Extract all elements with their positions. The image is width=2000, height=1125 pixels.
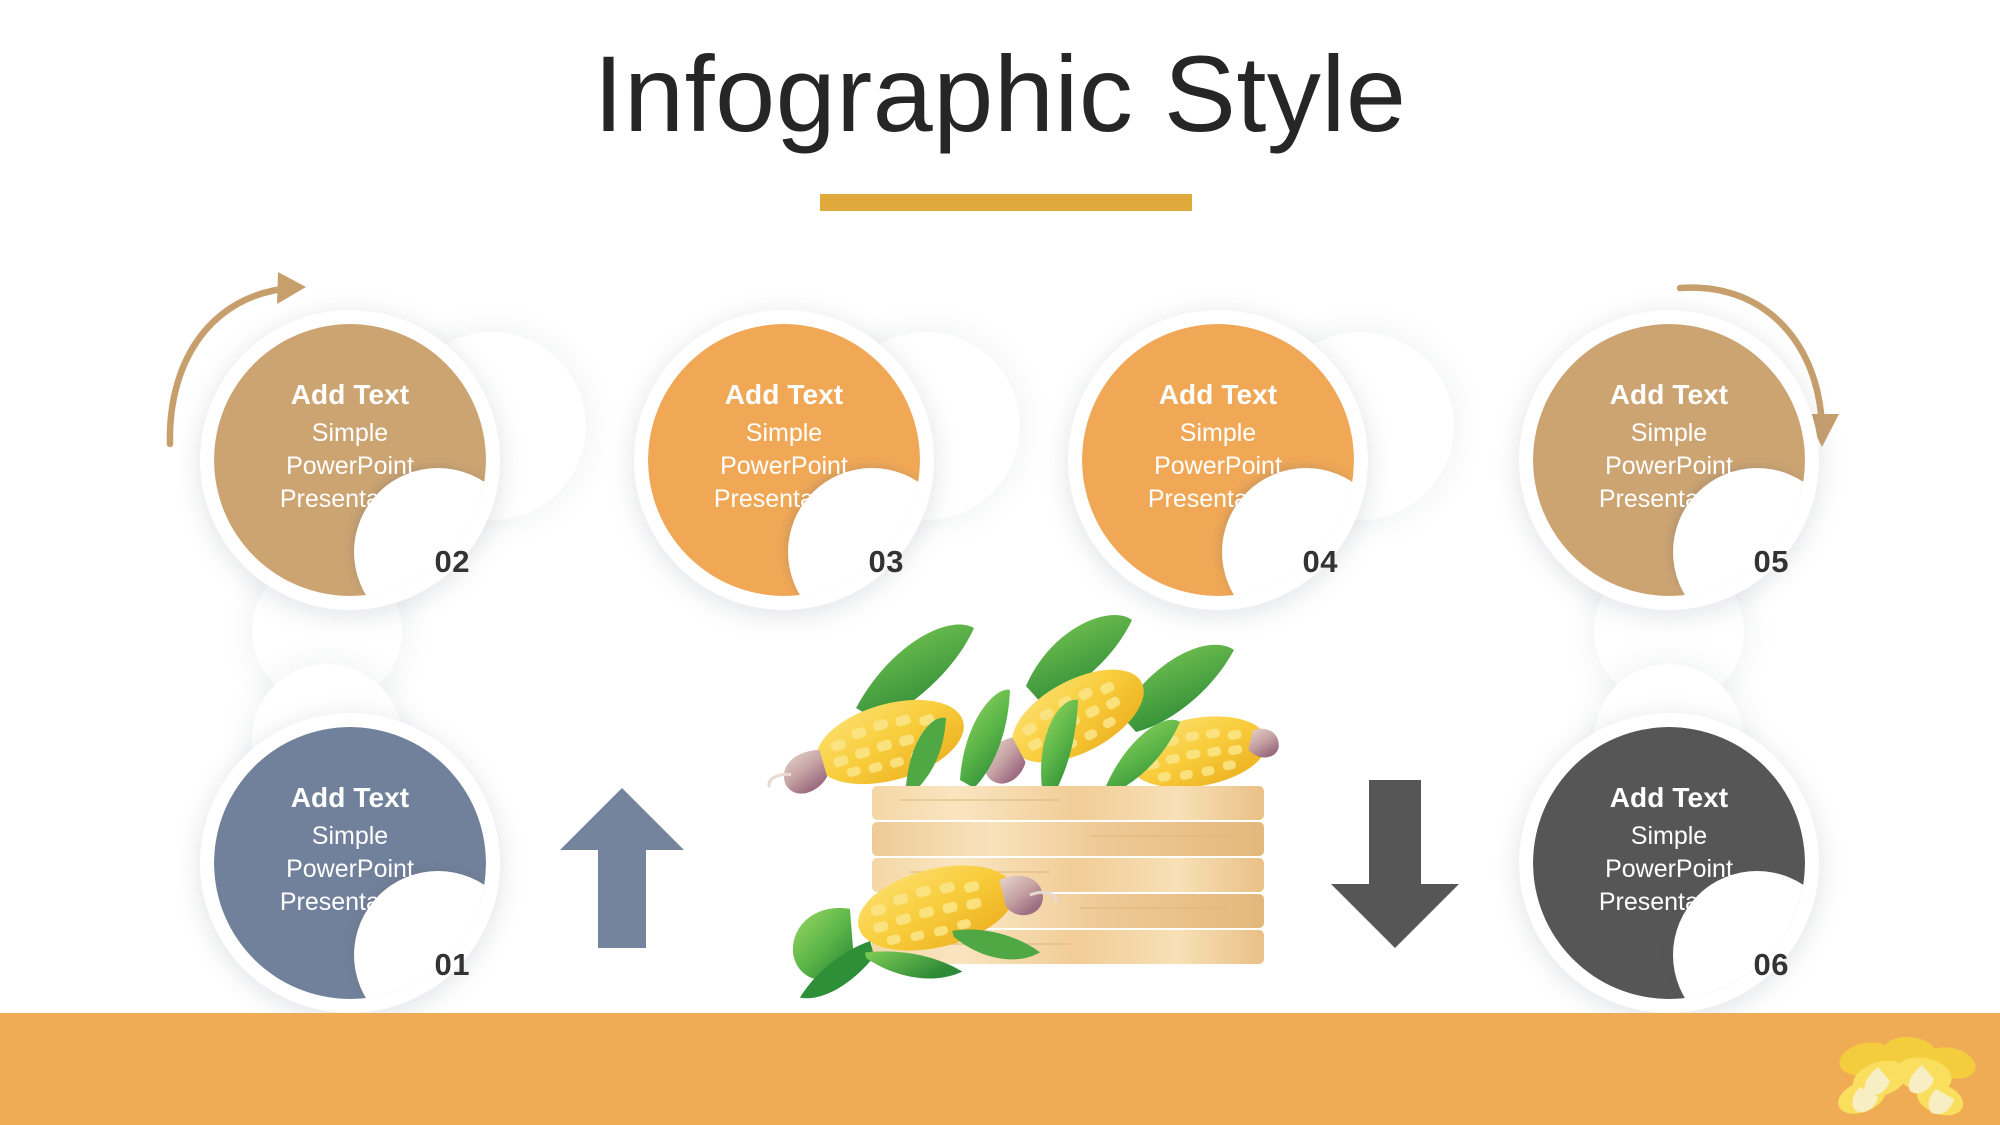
step-03-number: 03 xyxy=(869,544,904,580)
step-circle-04[interactable]: Add Text Simple PowerPoint Presentation … xyxy=(1068,310,1368,610)
step-02-number: 02 xyxy=(435,544,470,580)
step-05-number: 05 xyxy=(1754,544,1789,580)
step-circle-05[interactable]: Add Text Simple PowerPoint Presentation … xyxy=(1519,310,1819,610)
corn-kernels-icon xyxy=(1834,1027,1984,1123)
page-title: Infographic Style xyxy=(0,32,2000,156)
step-circle-03[interactable]: Add Text Simple PowerPoint Presentation … xyxy=(634,310,934,610)
arrow-down-icon xyxy=(1331,780,1459,948)
arrow-up-icon xyxy=(560,788,684,948)
corn-crate-illustration xyxy=(760,590,1280,1020)
step-circle-02[interactable]: Add Text Simple PowerPoint Presentation … xyxy=(200,310,500,610)
slide-canvas: Infographic Style Add Text Simple xyxy=(0,0,2000,1125)
step-04-number: 04 xyxy=(1303,544,1338,580)
step-06-number: 06 xyxy=(1754,947,1789,983)
title-underline-rule xyxy=(820,194,1192,211)
step-circle-06[interactable]: Add Text Simple PowerPoint Presentation … xyxy=(1519,713,1819,1013)
step-01-number: 01 xyxy=(435,947,470,983)
step-circle-01[interactable]: Add Text Simple PowerPoint Presentation … xyxy=(200,713,500,1013)
footer-bar xyxy=(0,1013,2000,1125)
